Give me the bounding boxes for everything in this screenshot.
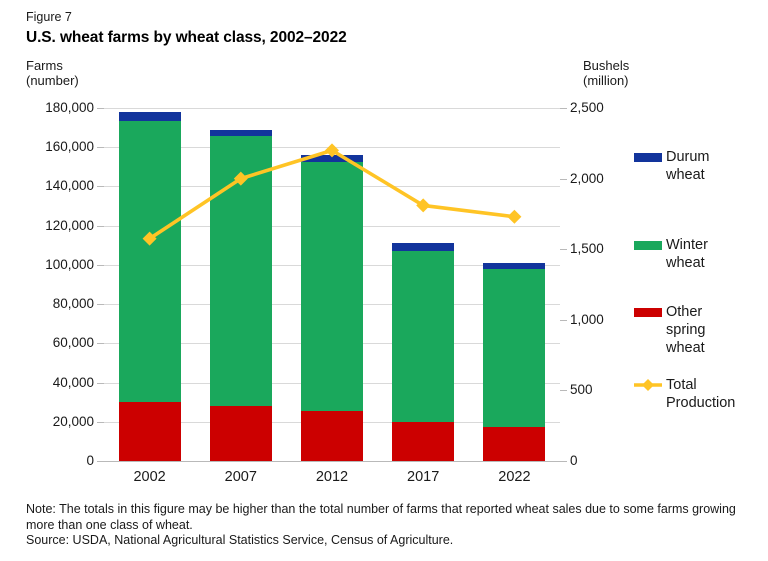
bar-column [483,108,545,461]
right-tick-mark [560,390,567,391]
x-axis-tick-label: 2007 [210,469,272,485]
left-tick-mark [97,186,104,187]
left-axis-tick-label: 180,000 [45,101,94,115]
right-tick-mark [560,320,567,321]
bar-column [301,108,363,461]
left-tick-mark [97,343,104,344]
bar-segment [392,422,454,461]
right-tick-mark [560,249,567,250]
bar-segment [483,427,545,461]
bar-segment [210,406,272,461]
footnotes: Note: The totals in this figure may be h… [26,502,746,549]
page-title: U.S. wheat farms by wheat class, 2002–20… [26,29,347,47]
bar-segment [392,251,454,422]
left-axis-tick-label: 100,000 [45,258,94,272]
left-axis-tick-label: 80,000 [53,297,94,311]
right-axis-tick-label: 1,500 [570,242,604,256]
x-axis-tick-label: 2022 [483,469,545,485]
right-axis-tick-label: 500 [570,383,593,397]
left-axis-tick-label: 120,000 [45,219,94,233]
left-tick-mark [97,422,104,423]
legend-item[interactable]: Total Production [634,376,735,412]
legend-label: Total Production [666,376,735,412]
left-axis-tick-label: 140,000 [45,179,94,193]
left-axis-tick-label: 20,000 [53,415,94,429]
right-tick-mark [560,108,567,109]
bar-segment [119,112,181,121]
left-tick-mark [97,265,104,266]
legend-color-swatch [634,308,662,317]
left-axis-caption: Farms (number) [26,58,79,88]
left-tick-mark [97,226,104,227]
legend-line-marker-icon [634,378,662,392]
x-axis-tick-label: 2012 [301,469,363,485]
legend-color-swatch [634,241,662,250]
bar-segment [301,162,363,411]
bar-segment [119,121,181,402]
left-tick-mark [97,461,104,462]
bar-column [119,108,181,461]
right-axis-tick-label: 2,500 [570,101,604,115]
x-axis-tick-label: 2002 [119,469,181,485]
footnote-note: Note: The totals in this figure may be h… [26,502,746,533]
footnote-source: Source: USDA, National Agricultural Stat… [26,533,746,549]
bar-segment [483,263,545,269]
bar-column [210,108,272,461]
legend-item[interactable]: Durum wheat [634,148,710,184]
right-axis-tick-label: 0 [570,454,578,468]
right-tick-mark [560,179,567,180]
legend-item[interactable]: Other spring wheat [634,303,706,357]
left-axis-tick-label: 0 [86,454,94,468]
legend-color-swatch [634,153,662,162]
left-tick-mark [97,108,104,109]
legend-label: Other spring wheat [666,303,706,357]
left-axis-tick-label: 40,000 [53,376,94,390]
bar-segment [483,269,545,427]
bar-segment [301,155,363,162]
left-tick-mark [97,147,104,148]
bar-segment [210,136,272,406]
right-tick-mark [560,461,567,462]
left-axis-tick-label: 60,000 [53,336,94,350]
x-axis-tick-label: 2017 [392,469,454,485]
legend-label: Winter wheat [666,236,708,272]
legend-label: Durum wheat [666,148,710,184]
gridline [104,461,560,462]
bar-segment [301,411,363,461]
left-tick-mark [97,383,104,384]
chart-plot-area: 180,000160,000140,000120,000100,00080,00… [104,108,560,461]
bar-segment [119,402,181,461]
right-axis-tick-label: 2,000 [570,172,604,186]
bar-segment [392,243,454,251]
legend-item[interactable]: Winter wheat [634,236,708,272]
right-axis-tick-label: 1,000 [570,313,604,327]
left-tick-mark [97,304,104,305]
figure-label: Figure 7 [26,10,72,24]
right-axis-caption: Bushels (million) [583,58,629,88]
left-axis-tick-label: 160,000 [45,140,94,154]
bar-column [392,108,454,461]
bar-segment [210,130,272,137]
